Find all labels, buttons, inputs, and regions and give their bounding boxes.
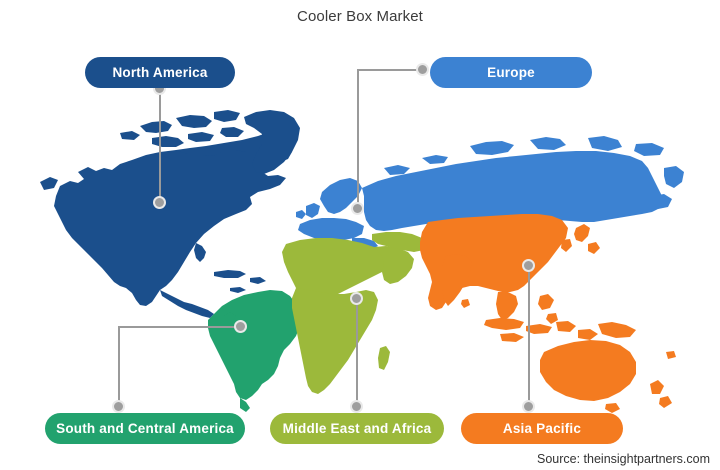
connector-dot-mea-label [350, 400, 363, 413]
region-label-south-central-america[interactable]: South and Central America [45, 413, 245, 444]
infographic-map-canvas: Cooler Box Market [0, 0, 720, 470]
connector-europe-vertical [357, 69, 359, 209]
region-label-europe[interactable]: Europe [430, 57, 592, 88]
connector-north-america [159, 88, 161, 204]
connector-sca-vertical [118, 326, 120, 406]
connector-mea [356, 298, 358, 406]
region-label-asia-pacific[interactable]: Asia Pacific [461, 413, 623, 444]
connector-dot-europe-map [351, 202, 364, 215]
connector-dot-asia-pacific-label [522, 400, 535, 413]
connector-sca-horizontal [119, 326, 241, 328]
connector-asia-pacific [528, 265, 530, 406]
connector-dot-europe-label [416, 63, 429, 76]
source-attribution: Source: theinsightpartners.com [537, 452, 710, 466]
region-label-middle-east-africa[interactable]: Middle East and Africa [270, 413, 444, 444]
connector-dot-north-america-map [153, 196, 166, 209]
connector-dot-sca-label [112, 400, 125, 413]
region-middle-east-africa [282, 232, 428, 394]
region-south-central-america [208, 290, 300, 412]
connector-dot-asia-pacific-map [522, 259, 535, 272]
region-asia-pacific [420, 214, 676, 413]
region-north-america [40, 110, 300, 318]
region-label-north-america[interactable]: North America [85, 57, 235, 88]
connector-dot-mea-map [350, 292, 363, 305]
connector-dot-sca-map [234, 320, 247, 333]
connector-europe-horizontal [357, 69, 423, 71]
